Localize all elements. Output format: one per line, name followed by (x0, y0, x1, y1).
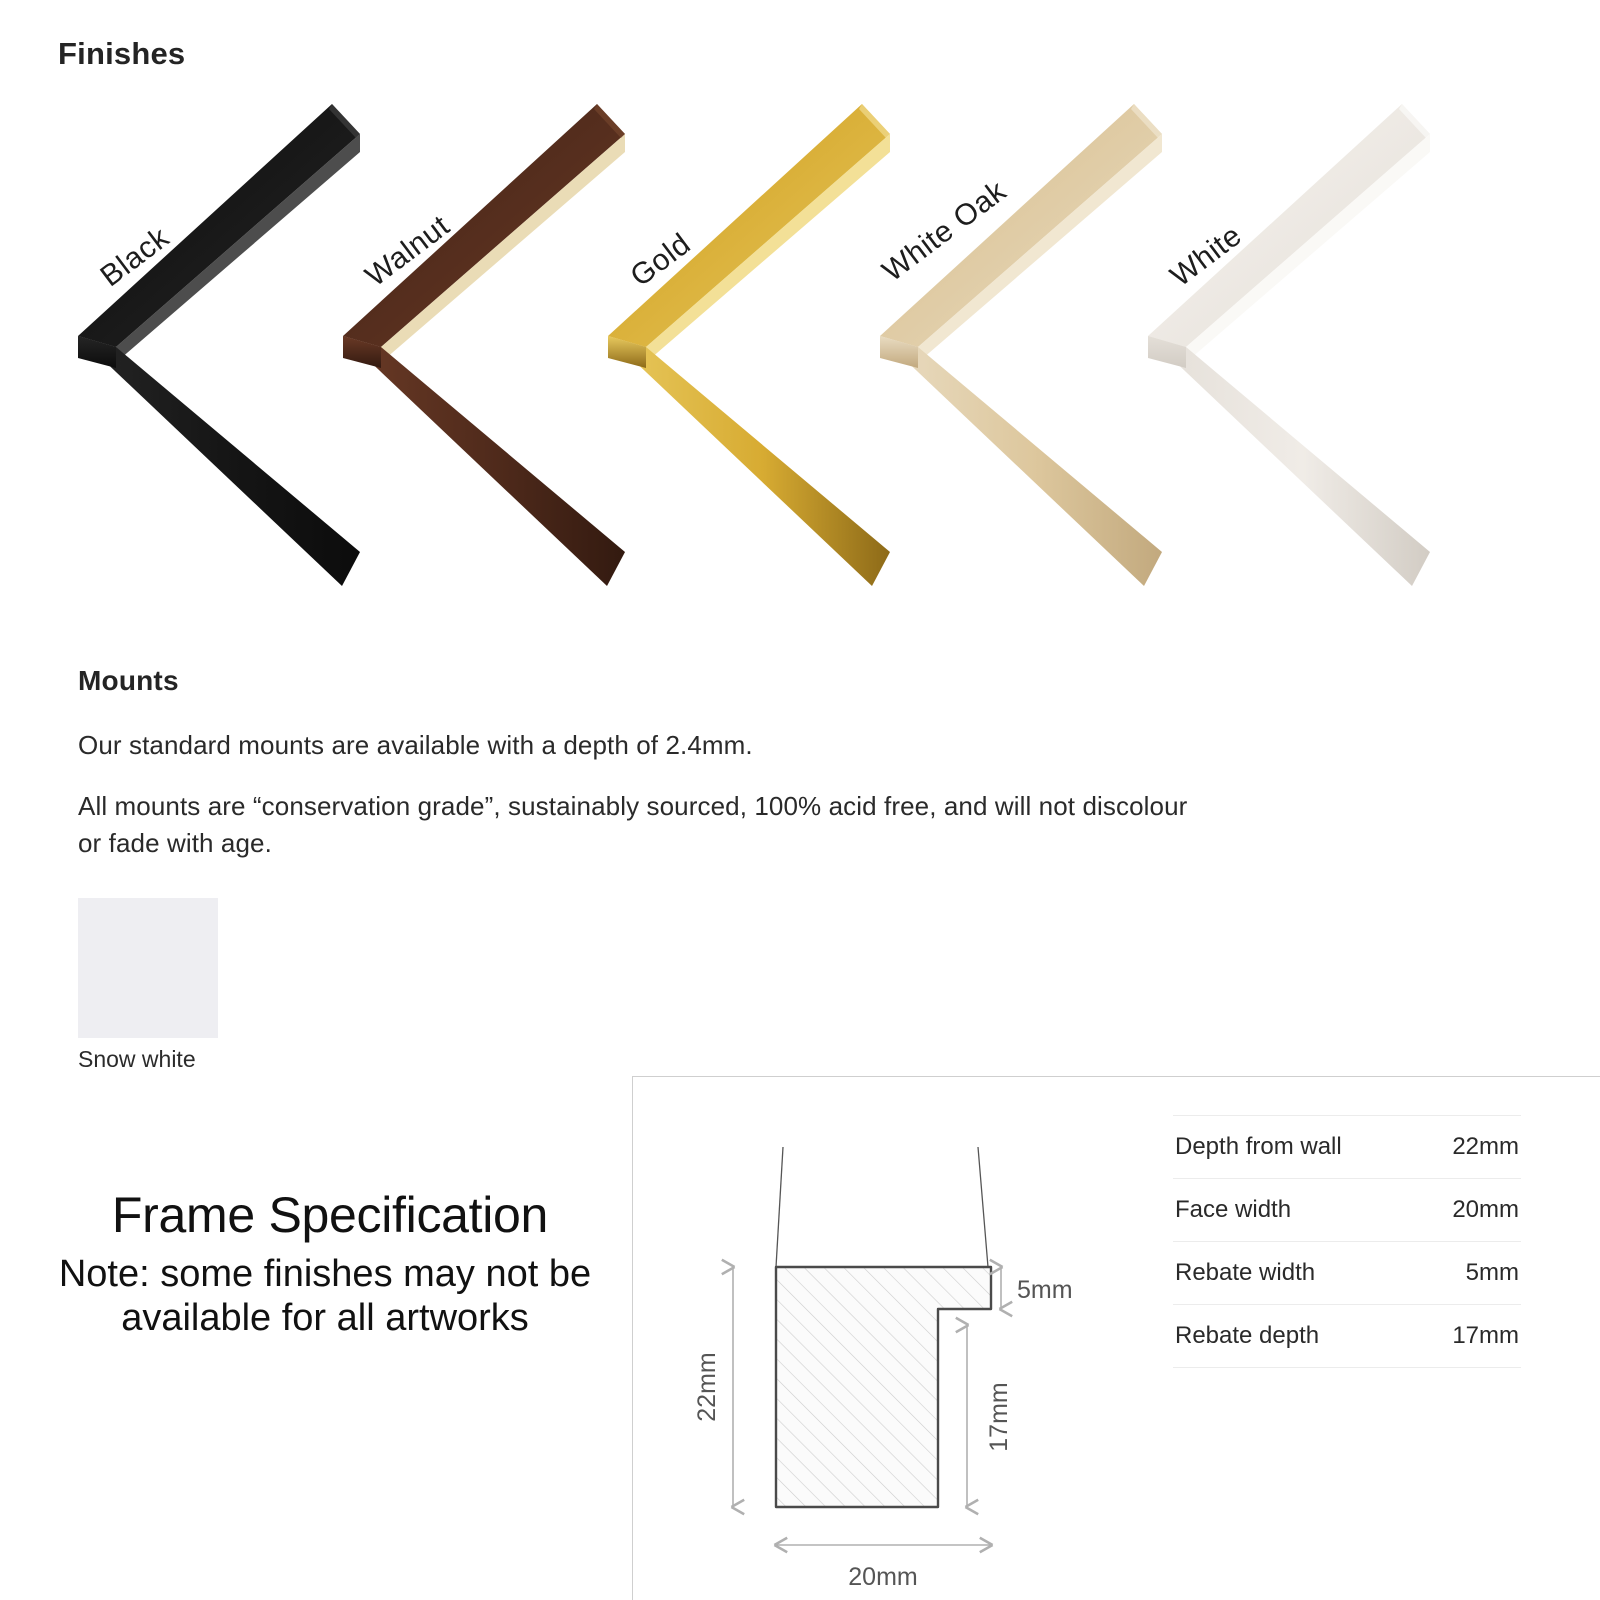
frame-spec-table: Depth from wall22mmFace width20mmRebate … (1173, 1115, 1521, 1368)
dimension-height-22mm: 22mm (693, 1267, 733, 1507)
dimension-rebate-width-5mm: 5mm (1001, 1267, 1073, 1309)
spec-table-row: Rebate depth17mm (1173, 1305, 1521, 1368)
finish-corner-illustration (60, 100, 360, 590)
mounts-paragraph-conservation: All mounts are “conservation grade”, sus… (78, 788, 1208, 862)
mounts-paragraph-depth: Our standard mounts are available with a… (78, 727, 753, 764)
dimension-face-width-20mm: 20mm (776, 1545, 991, 1591)
finish-corner-illustration (325, 100, 625, 590)
spec-row-label: Rebate width (1173, 1242, 1419, 1305)
spec-table-row: Rebate width5mm (1173, 1242, 1521, 1305)
dimension-rebate-depth-label: 17mm (985, 1382, 1013, 1451)
spec-row-value: 17mm (1419, 1305, 1521, 1368)
finish-corner-illustration (862, 100, 1162, 590)
diagram-profile (776, 1267, 991, 1507)
spec-row-value: 22mm (1419, 1116, 1521, 1179)
frame-specification-note-line-2: available for all artworks (121, 1297, 529, 1339)
spec-row-label: Face width (1173, 1179, 1419, 1242)
finishes-heading: Finishes (58, 36, 185, 72)
page-root: Finishes BlackWalnutGoldWhite OakWhite M… (0, 0, 1600, 1600)
frame-specification-title: Frame Specification (60, 1186, 600, 1244)
finish-swatch-white-oak[interactable]: White Oak (862, 100, 1162, 590)
dimension-rebate-depth-17mm: 17mm (967, 1325, 1013, 1507)
spec-row-value: 20mm (1419, 1179, 1521, 1242)
finish-corner-illustration (1130, 100, 1430, 590)
spec-row-value: 5mm (1419, 1242, 1521, 1305)
finish-swatch-walnut[interactable]: Walnut (325, 100, 625, 590)
frame-cross-section-diagram: 22mm 5mm 17mm 20mm (633, 1077, 1133, 1600)
frame-specification-note-line-1: Note: some finishes may not be (59, 1253, 591, 1295)
mounts-heading: Mounts (78, 665, 179, 697)
finish-swatch-gold[interactable]: Gold (590, 100, 890, 590)
dimension-rebate-width-label: 5mm (1017, 1276, 1073, 1304)
mount-swatch-label: Snow white (78, 1046, 196, 1073)
frame-specification-note: Note: some finishes may not be available… (40, 1253, 610, 1340)
diagram-leader-lines (776, 1147, 988, 1267)
spec-table-row: Face width20mm (1173, 1179, 1521, 1242)
mount-swatch-snow-white[interactable] (78, 898, 218, 1038)
dimension-height-label: 22mm (693, 1352, 721, 1421)
finishes-gallery: BlackWalnutGoldWhite OakWhite (0, 100, 1600, 600)
dimension-face-width-label: 20mm (848, 1563, 917, 1591)
finish-swatch-white[interactable]: White (1130, 100, 1430, 590)
spec-row-label: Depth from wall (1173, 1116, 1419, 1179)
finish-swatch-black[interactable]: Black (60, 100, 360, 590)
spec-row-label: Rebate depth (1173, 1305, 1419, 1368)
frame-specification-panel: 22mm 5mm 17mm 20mm (632, 1076, 1600, 1600)
spec-table-row: Depth from wall22mm (1173, 1116, 1521, 1179)
finish-corner-illustration (590, 100, 890, 590)
